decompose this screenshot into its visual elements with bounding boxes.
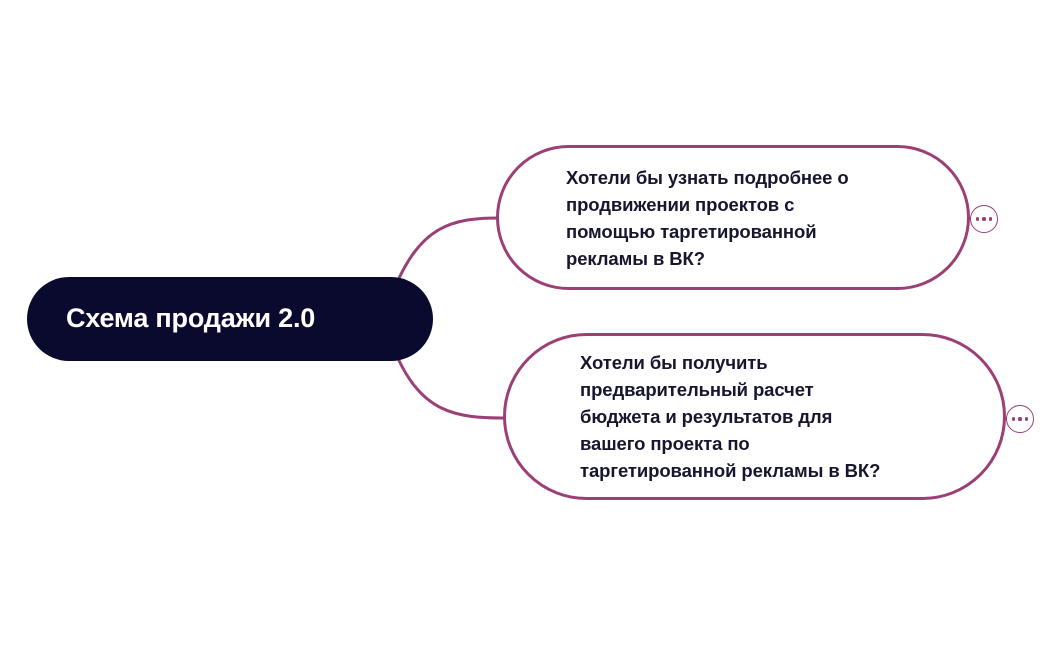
ellipsis-dot <box>1018 417 1021 420</box>
branch-1-ellipsis-icon[interactable] <box>970 205 998 233</box>
ellipsis-dot <box>1025 417 1028 420</box>
connector-root-to-branch-2 <box>393 347 507 418</box>
branch-node-2-line-3: бюджета и результатов для <box>580 403 880 430</box>
root-node-label: Схема продажи 2.0 <box>66 304 315 334</box>
branch-node-1-label: Хотели бы узнать подробнее о продвижении… <box>566 164 849 272</box>
branch-node-2-line-4: вашего проекта по <box>580 430 880 457</box>
branch-2-ellipsis-icon[interactable] <box>1006 405 1034 433</box>
branch-node-1-line-2: продвижении проектов с <box>566 191 849 218</box>
root-node[interactable]: Схема продажи 2.0 <box>27 277 433 361</box>
branch-node-1-line-3: помощью таргетированной <box>566 218 849 245</box>
branch-node-2[interactable]: Хотели бы получить предварительный расче… <box>503 333 1006 500</box>
ellipsis-dot <box>1012 417 1015 420</box>
ellipsis-dot <box>982 217 985 220</box>
mindmap-canvas: Схема продажи 2.0 Хотели бы узнать подро… <box>0 0 1050 650</box>
branch-node-2-line-2: предварительный расчет <box>580 376 880 403</box>
branch-node-2-line-5: таргетированной рекламы в ВК? <box>580 457 880 484</box>
branch-node-1-line-4: рекламы в ВК? <box>566 245 849 272</box>
branch-node-2-label: Хотели бы получить предварительный расче… <box>580 349 880 484</box>
branch-node-2-line-1: Хотели бы получить <box>580 349 880 376</box>
branch-node-1-line-1: Хотели бы узнать подробнее о <box>566 164 849 191</box>
ellipsis-dot <box>976 217 979 220</box>
ellipsis-dot <box>989 217 992 220</box>
branch-node-1[interactable]: Хотели бы узнать подробнее о продвижении… <box>496 145 970 290</box>
